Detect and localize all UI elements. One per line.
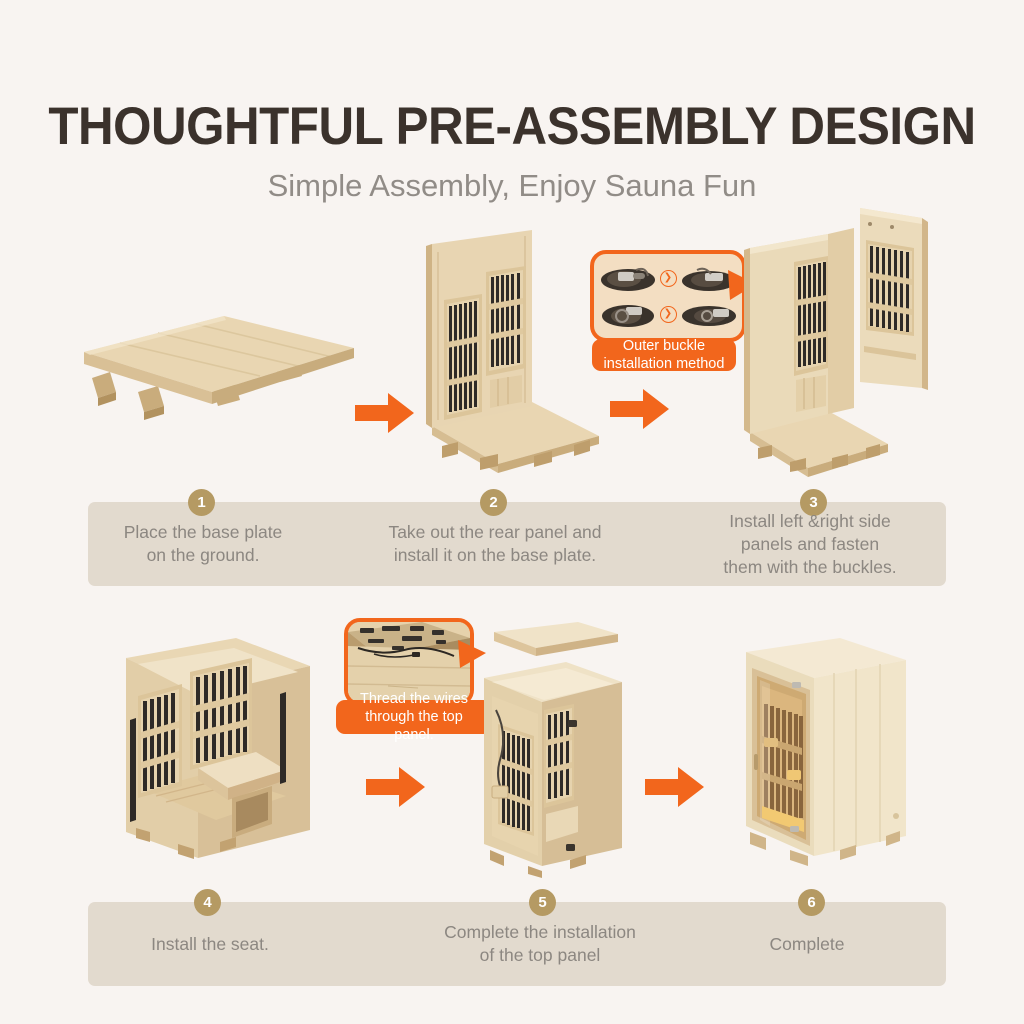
step-caption-4-line-1: Install the seat. [151, 934, 269, 954]
buckle-photo-1 [600, 264, 656, 292]
wires-label-line-2: through the top panel. [365, 709, 463, 743]
callout-label-line-2: installation method [604, 356, 725, 372]
illustration-seat-topdown [120, 620, 320, 870]
buckle-photo-3 [600, 300, 656, 328]
step-caption-2: Take out the rear panel and install it o… [350, 502, 640, 586]
step-caption-3-line-1: Install left &right side [729, 511, 890, 531]
step-caption-1-line-1: Place the base plate [124, 522, 283, 542]
step-caption-2-line-1: Take out the rear panel and [388, 522, 601, 542]
callout-label-line-1: Outer buckle [623, 338, 705, 354]
step-caption-2-line-2: install it on the base plate. [394, 545, 596, 565]
arrow-step5-to-step6 [645, 766, 705, 808]
wires-label-line-1: Thread the wires [360, 691, 468, 707]
infographic-canvas: THOUGHTFUL PRE-ASSEMBLY DESIGN Simple As… [0, 0, 1024, 1024]
step-caption-3-line-2: panels and fasten [741, 534, 879, 554]
page-subtitle: Simple Assembly, Enjoy Sauna Fun [0, 168, 1024, 204]
arrow-step1-to-step2 [355, 392, 415, 434]
callout-label-thread-wires: Thread the wires through the top panel. [336, 700, 492, 734]
step-caption-5-line-1: Complete the installation [444, 922, 636, 942]
chevron-right-icon: ❯ [660, 306, 677, 323]
step-caption-3: Install left &right side panels and fast… [690, 502, 930, 586]
illustration-finished-sauna [730, 620, 930, 870]
illustration-rear-panel-on-base [424, 230, 604, 480]
step-caption-6-line-1: Complete [770, 934, 845, 954]
step-caption-5: Complete the installation of the top pan… [410, 902, 670, 986]
step-caption-4: Install the seat. [110, 902, 310, 986]
arrow-step4-to-step5 [366, 766, 426, 808]
page-title: THOUGHTFUL PRE-ASSEMBLY DESIGN [36, 96, 988, 157]
chevron-right-icon: ❯ [660, 270, 677, 287]
step-caption-5-line-2: of the top panel [480, 945, 601, 965]
step-caption-6: Complete [712, 902, 902, 986]
step-caption-1-line-2: on the ground. [147, 545, 260, 565]
buckle-photo-4 [681, 300, 737, 328]
illustration-top-panel-exploded [470, 618, 640, 878]
illustration-side-panels [736, 200, 956, 485]
callout-label-outer-buckle: Outer buckle installation method [592, 339, 736, 371]
callout-outer-buckle: ❯ ❯ [590, 250, 746, 342]
arrow-step2-to-step3 [610, 388, 670, 430]
step-caption-1: Place the base plate on the ground. [88, 502, 318, 586]
illustration-base-plate [84, 300, 354, 430]
step-caption-3-line-3: them with the buckles. [723, 557, 896, 577]
